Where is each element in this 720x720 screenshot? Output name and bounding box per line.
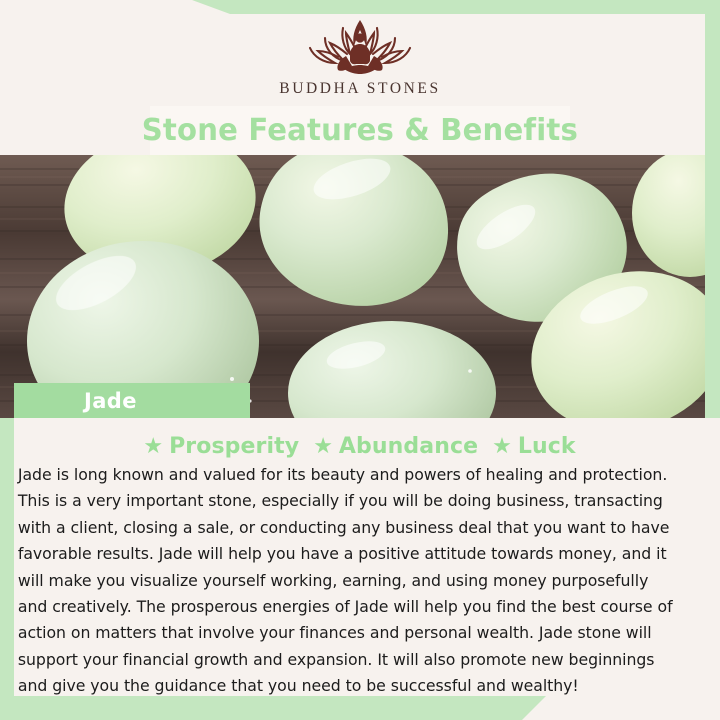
star-icon: ★ xyxy=(143,435,163,457)
keyword-item-abundance: ★ Abundance xyxy=(313,434,478,459)
infographic-page: BUDDHA STONES Stone Features & Benefits xyxy=(0,0,720,720)
keyword-item-prosperity: ★ Prosperity xyxy=(143,434,299,459)
keyword-label: Abundance xyxy=(339,434,478,459)
keyword-label: Prosperity xyxy=(169,434,299,459)
lotus-meditation-icon xyxy=(294,16,426,78)
stone-name-band: Jade xyxy=(14,383,250,418)
brand-logo: BUDDHA STONES xyxy=(0,16,720,108)
page-title: Stone Features & Benefits xyxy=(142,113,578,148)
keyword-item-luck: ★ Luck xyxy=(492,434,576,459)
star-icon: ★ xyxy=(492,435,512,457)
jade-stones-illustration xyxy=(0,155,705,418)
decor-top-right-band xyxy=(192,0,720,14)
title-banner: Stone Features & Benefits xyxy=(150,106,570,155)
star-icon: ★ xyxy=(313,435,333,457)
keyword-label: Luck xyxy=(518,434,576,459)
brand-name: BUDDHA STONES xyxy=(279,80,440,98)
stone-photo xyxy=(0,155,705,418)
decor-left-edge-strip xyxy=(0,418,14,696)
stone-name-label: Jade xyxy=(84,389,137,413)
keyword-row: ★ Prosperity ★ Abundance ★ Luck xyxy=(14,430,705,462)
stone-description: Jade is long known and valued for its be… xyxy=(14,462,681,696)
